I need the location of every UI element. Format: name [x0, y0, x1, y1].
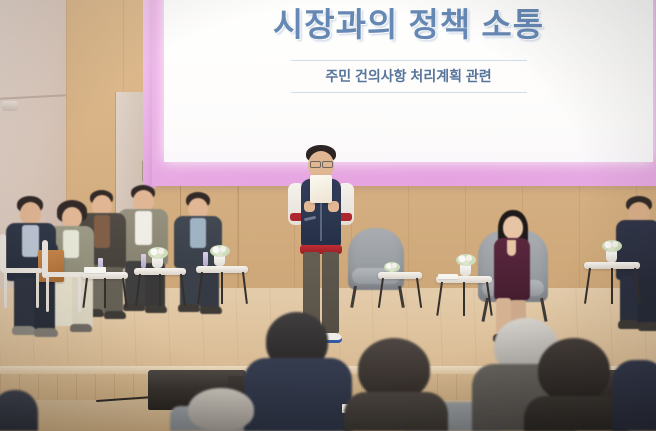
- speaker-leg-right: [322, 252, 339, 334]
- slide-title: 시장과의 정책 소통: [273, 0, 544, 46]
- side-table-4: [436, 276, 492, 314]
- wall-fixture: [2, 101, 18, 111]
- side-table-3: [196, 266, 248, 302]
- slide-subtitle-frame: 주민 건의사항 처리계획 관련: [291, 60, 527, 93]
- presentation-slide: 시장과의 정책 소통 주민 건의사항 처리계획 관련: [164, 0, 653, 162]
- slide-subtitle: 주민 건의사항 처리계획 관련: [295, 66, 523, 86]
- speaker-document: [310, 175, 332, 203]
- water-bottle-3: [203, 252, 208, 266]
- flowers-3: [456, 254, 476, 266]
- side-table-center: [378, 272, 422, 306]
- flowers-2: [210, 245, 230, 257]
- note-paper-2: [438, 274, 458, 279]
- side-table-2: [134, 268, 186, 304]
- flowers-center: [384, 262, 400, 272]
- projection-screen: 시장과의 정책 소통 주민 건의사항 처리계획 관련: [152, 0, 656, 186]
- flowers-1: [148, 247, 168, 259]
- side-table-5: [584, 262, 640, 302]
- event-photograph: 시장과의 정책 소통 주민 건의사항 처리계획 관련: [0, 0, 656, 431]
- note-paper-1: [84, 267, 106, 273]
- side-table-1: [82, 272, 128, 306]
- flowers-4: [602, 240, 622, 252]
- screen-surface: 시장과의 정책 소통 주민 건의사항 처리계획 관련: [164, 0, 653, 162]
- water-bottle-2: [141, 254, 146, 268]
